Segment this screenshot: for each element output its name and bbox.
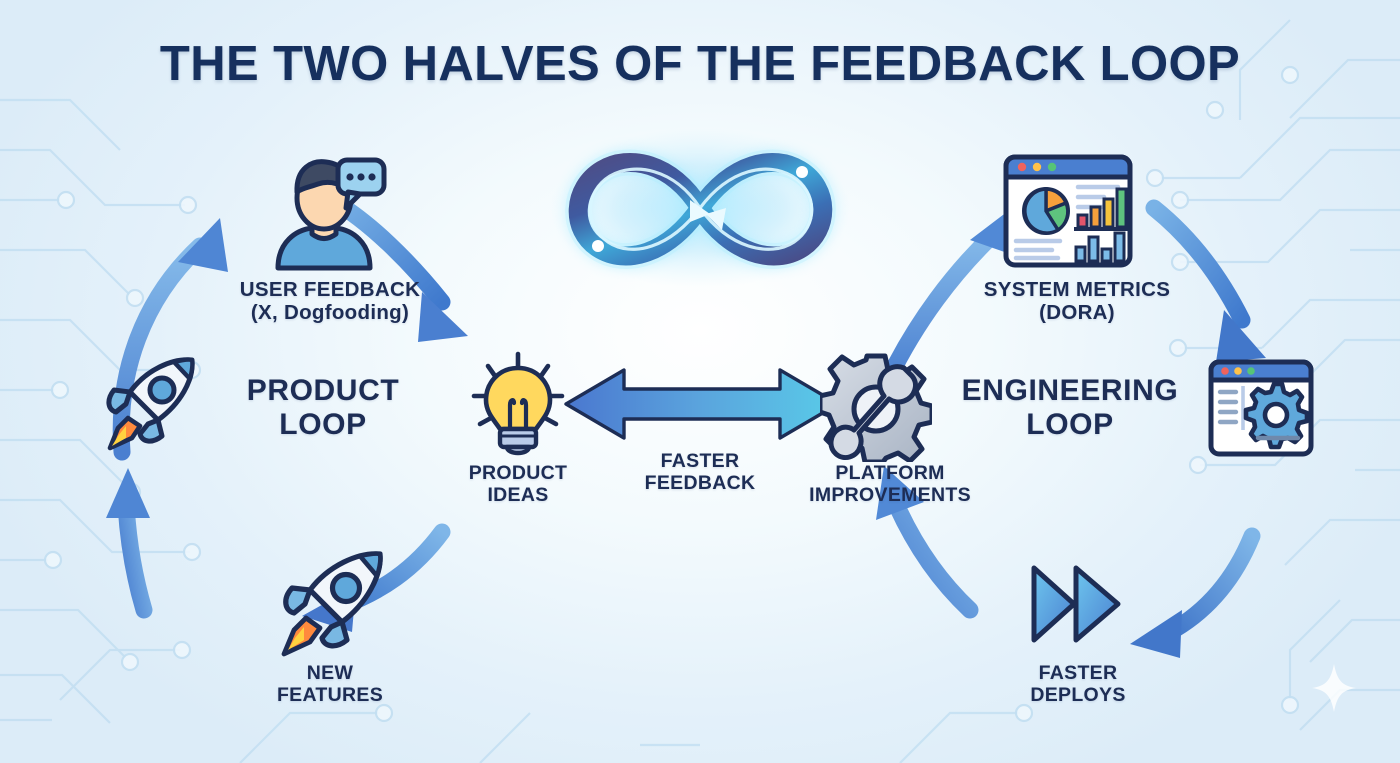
- settings-window-icon: [1206, 358, 1316, 458]
- rocket-icon: [96, 350, 204, 458]
- fast-forward-icon: [1028, 562, 1128, 646]
- rocket-icon: [268, 544, 394, 664]
- double-headed-arrow-icon: [562, 358, 842, 450]
- page-title: THE TWO HALVES OF THE FEEDBACK LOOP: [0, 36, 1400, 92]
- label-user-feedback: USER FEEDBACK (X, Dogfooding): [205, 278, 455, 325]
- label-product-ideas: PRODUCT IDEAS: [428, 462, 608, 506]
- label-engineering-loop: ENGINEERING LOOP: [948, 374, 1192, 442]
- label-faster-deploys: FASTER DEPLOYS: [988, 662, 1168, 706]
- user-speech-bubble-icon: [256, 150, 390, 274]
- label-new-features: NEW FEATURES: [240, 662, 420, 706]
- lightbulb-icon: [466, 350, 570, 460]
- label-faster-feedback: FASTER FEEDBACK: [610, 450, 790, 494]
- label-product-loop: PRODUCT LOOP: [205, 374, 441, 442]
- sparkle-icon: [1310, 662, 1358, 714]
- infographic-canvas: THE TWO HALVES OF THE FEEDBACK LOOP: [0, 0, 1400, 763]
- gear-wrench-icon: [820, 352, 932, 462]
- analytics-dashboard-icon: [1000, 153, 1136, 269]
- label-system-metrics: SYSTEM METRICS (DORA): [950, 278, 1204, 325]
- label-platform-improvements: PLATFORM IMPROVEMENTS: [786, 462, 994, 506]
